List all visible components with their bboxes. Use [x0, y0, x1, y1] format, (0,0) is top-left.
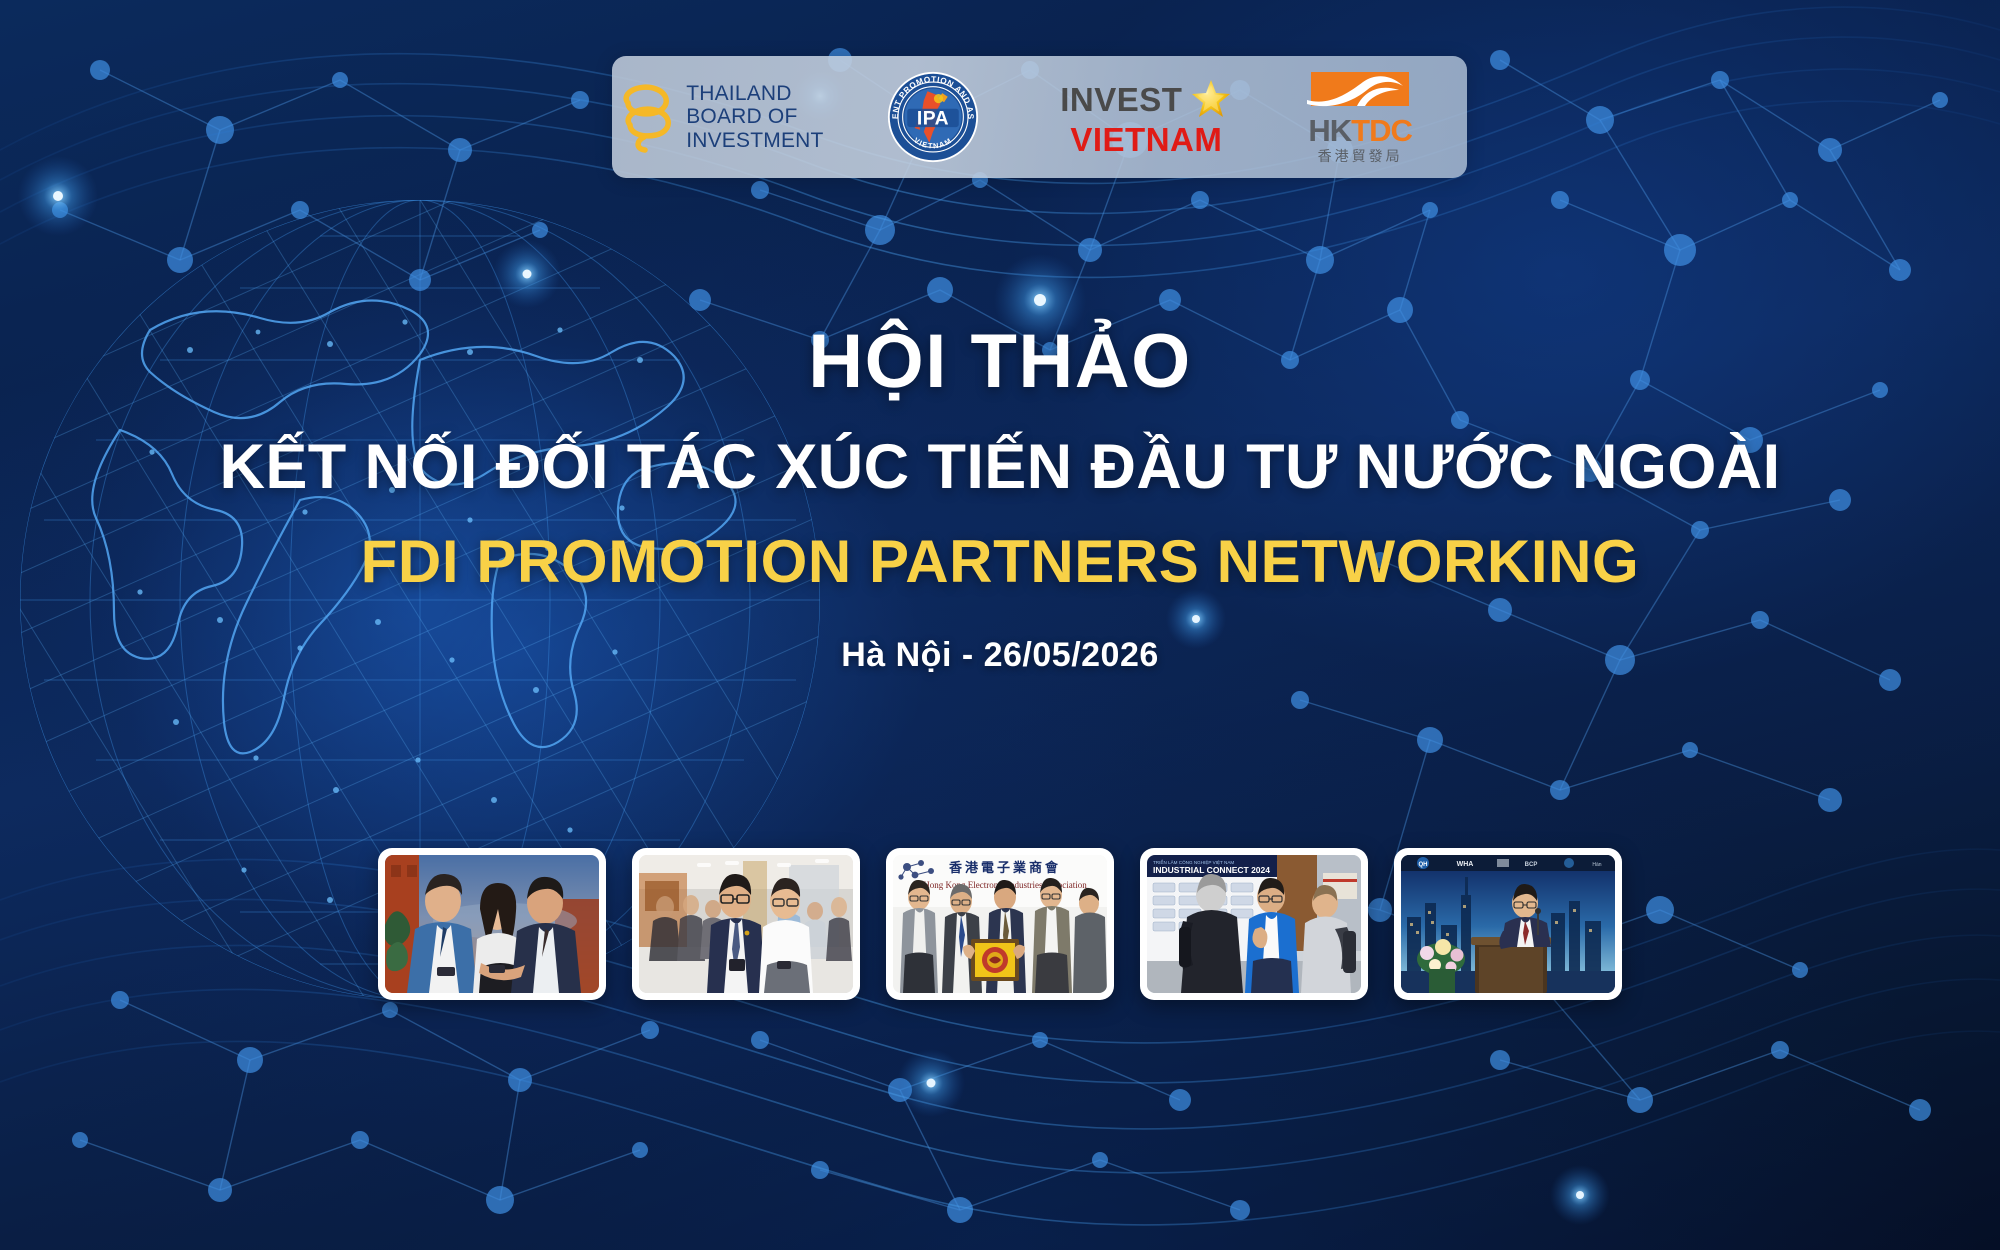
svg-text:BCP: BCP: [1525, 862, 1538, 868]
thailand-boi-mark-icon: [614, 81, 676, 153]
photo-keynote-speaker: QH WHA BCP Hàn: [1394, 848, 1622, 1000]
hktdc-badge-icon: [1307, 72, 1413, 112]
photo-keynote-speaker-image: QH WHA BCP Hàn: [1401, 855, 1615, 993]
logo-hktdc: HKTDC 香港貿發局: [1253, 56, 1467, 178]
headline-line-3-english: FDI PROMOTION PARTNERS NETWORKING: [0, 527, 2000, 596]
svg-text:TRIỂN LÃM CÔNG NGHIỆP VIỆT NAM: TRIỂN LÃM CÔNG NGHIỆP VIỆT NAM: [1153, 858, 1234, 865]
logo-ipa-vietnam: INVESTMENT PROMOTION AND ASSOCIATE VIETN…: [826, 56, 1040, 178]
hktdc-letters-tdc: TDC: [1351, 113, 1412, 148]
boi-line-1: THAILAND: [686, 82, 823, 106]
invest-vietnam-line-1: INVEST: [1060, 83, 1182, 116]
svg-text:QH: QH: [1419, 862, 1428, 868]
event-date-location: Hà Nội - 26/05/2026: [0, 636, 2000, 675]
svg-text:香港電子業商會: 香港電子業商會: [948, 860, 1061, 875]
photo-lobby-conversation: [632, 848, 860, 1000]
ipa-seal-icon: INVESTMENT PROMOTION AND ASSOCIATE VIETN…: [887, 71, 979, 163]
svg-text:INDUSTRIAL CONNECT 2024: INDUSTRIAL CONNECT 2024: [1153, 865, 1270, 875]
boi-line-2: BOARD OF: [686, 105, 823, 129]
logo-invest-vietnam: INVEST VIETNAM: [1040, 56, 1254, 178]
svg-text:WHA: WHA: [1457, 861, 1474, 868]
poster-stage: THAILAND BOARD OF INVESTMENT: [0, 0, 2000, 1250]
photo-award-presentation-image: 香港電子業商會 Hong Kong Electronic Industries …: [893, 855, 1107, 993]
hktdc-letters-hk: HK: [1308, 113, 1351, 148]
svg-text:IPA: IPA: [917, 108, 949, 129]
photo-networking-handshake: [378, 848, 606, 1000]
hktdc-chinese-name: 香港貿發局: [1318, 149, 1403, 163]
photo-lobby-conversation-image: [639, 855, 853, 993]
headline-line-1: HỘI THẢO: [0, 318, 2000, 405]
photo-expo-discussion: TRIỂN LÃM CÔNG NGHIỆP VIỆT NAM INDUSTRIA…: [1140, 848, 1368, 1000]
partner-logo-bar: THAILAND BOARD OF INVESTMENT: [612, 56, 1467, 178]
headline-block: HỘI THẢO KẾT NỐI ĐỐI TÁC XÚC TIẾN ĐẦU TƯ…: [0, 318, 2000, 675]
photo-expo-discussion-image: TRIỂN LÃM CÔNG NGHIỆP VIỆT NAM INDUSTRIA…: [1147, 855, 1361, 993]
logo-thailand-board-of-investment: THAILAND BOARD OF INVESTMENT: [612, 56, 826, 178]
star-icon: [1190, 78, 1232, 120]
boi-line-3: INVESTMENT: [686, 129, 823, 153]
thailand-boi-text: THAILAND BOARD OF INVESTMENT: [686, 82, 823, 153]
photo-award-presentation: 香港電子業商會 Hong Kong Electronic Industries …: [886, 848, 1114, 1000]
svg-text:Hàn: Hàn: [1592, 862, 1601, 868]
headline-line-2: KẾT NỐI ĐỐI TÁC XÚC TIẾN ĐẦU TƯ NƯỚC NGO…: [0, 431, 2000, 503]
hktdc-letters: HKTDC: [1308, 115, 1412, 146]
event-photo-strip: 香港電子業商會 Hong Kong Electronic Industries …: [0, 848, 2000, 1000]
photo-networking-handshake-image: [385, 855, 599, 993]
invest-vietnam-line-2: VIETNAM: [1070, 123, 1222, 156]
